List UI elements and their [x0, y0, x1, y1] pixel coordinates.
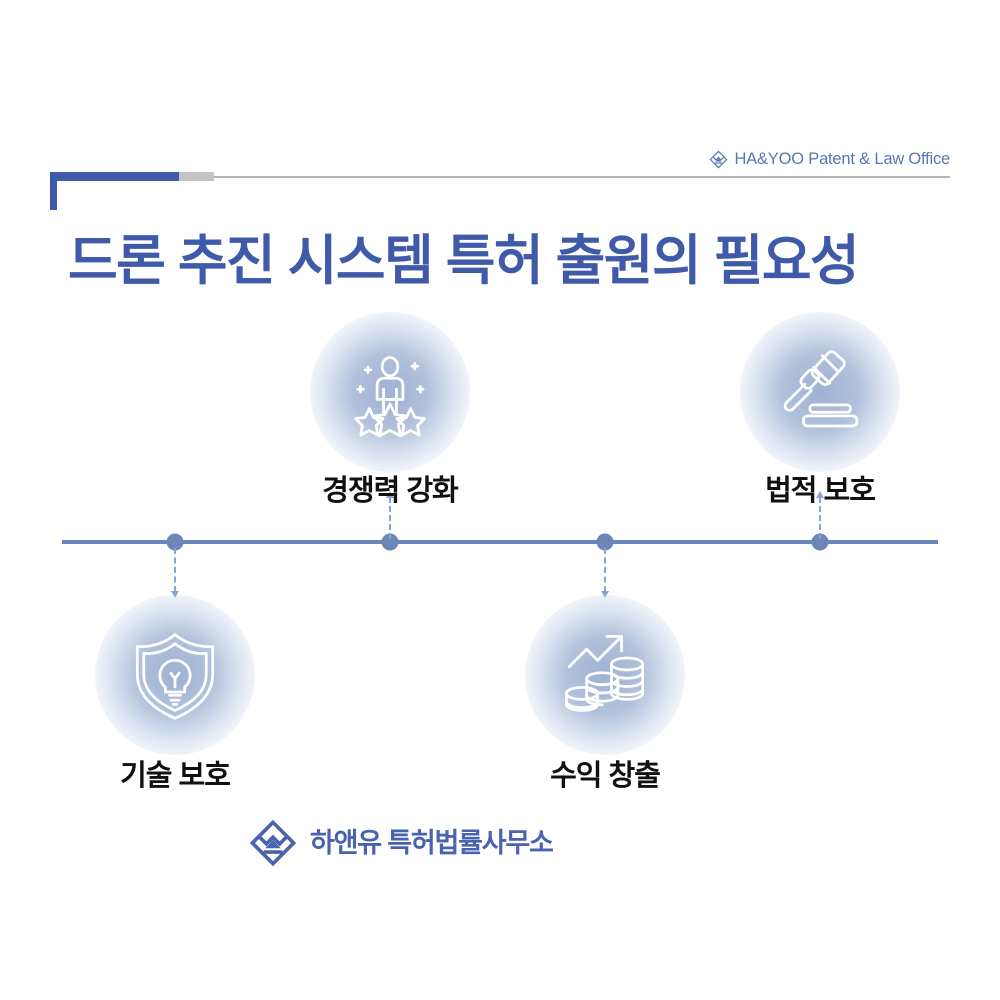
- timeline-axis: [62, 540, 938, 544]
- header-brand: HA&YOO Patent & Law Office: [709, 148, 950, 170]
- timeline-item-label: 기술 보호: [45, 761, 305, 793]
- timeline-item-label: 경쟁력 강화: [260, 476, 520, 508]
- header-brand-name: HA&YOO Patent & Law Office: [734, 151, 950, 168]
- timeline-item-label: 법적 보호: [690, 476, 950, 508]
- timeline-item-legal-protection[interactable]: 법적 보호: [690, 312, 950, 508]
- shield-lightbulb-icon: [129, 629, 221, 721]
- timeline-item-competitiveness[interactable]: 경쟁력 강화: [260, 312, 520, 508]
- header-rule-thin: [213, 176, 950, 178]
- hayoo-diamond-logo-icon: [248, 818, 298, 868]
- footer-brand-name: 하앤유 특허법률사무소: [310, 830, 553, 857]
- timeline-connector-2: [604, 548, 606, 592]
- timeline-item-technology-protection[interactable]: 기술 보호: [45, 595, 305, 793]
- footer-brand: 하앤유 특허법률사무소: [248, 818, 553, 868]
- header-bracket-stem: [50, 172, 57, 210]
- header-rule-gray: [178, 172, 214, 181]
- timeline-item-revenue-generation[interactable]: 수익 창출: [475, 595, 735, 793]
- icon-container: [95, 595, 255, 755]
- icon-container: [310, 312, 470, 472]
- slide-canvas: HA&YOO Patent & Law Office 드론 추진 시스템 특허 …: [0, 0, 1000, 1000]
- timeline-item-label: 수익 창출: [475, 761, 735, 793]
- page-title: 드론 추진 시스템 특허 출원의 필요성: [68, 230, 968, 294]
- gavel-icon: [774, 346, 866, 438]
- coins-growth-arrow-icon: [559, 629, 651, 721]
- header-rule-blue: [50, 172, 179, 181]
- hayoo-diamond-logo-icon: [709, 150, 728, 169]
- icon-container: [525, 595, 685, 755]
- timeline-connector-0: [174, 548, 176, 592]
- person-stars-icon: [344, 346, 436, 438]
- icon-container: [740, 312, 900, 472]
